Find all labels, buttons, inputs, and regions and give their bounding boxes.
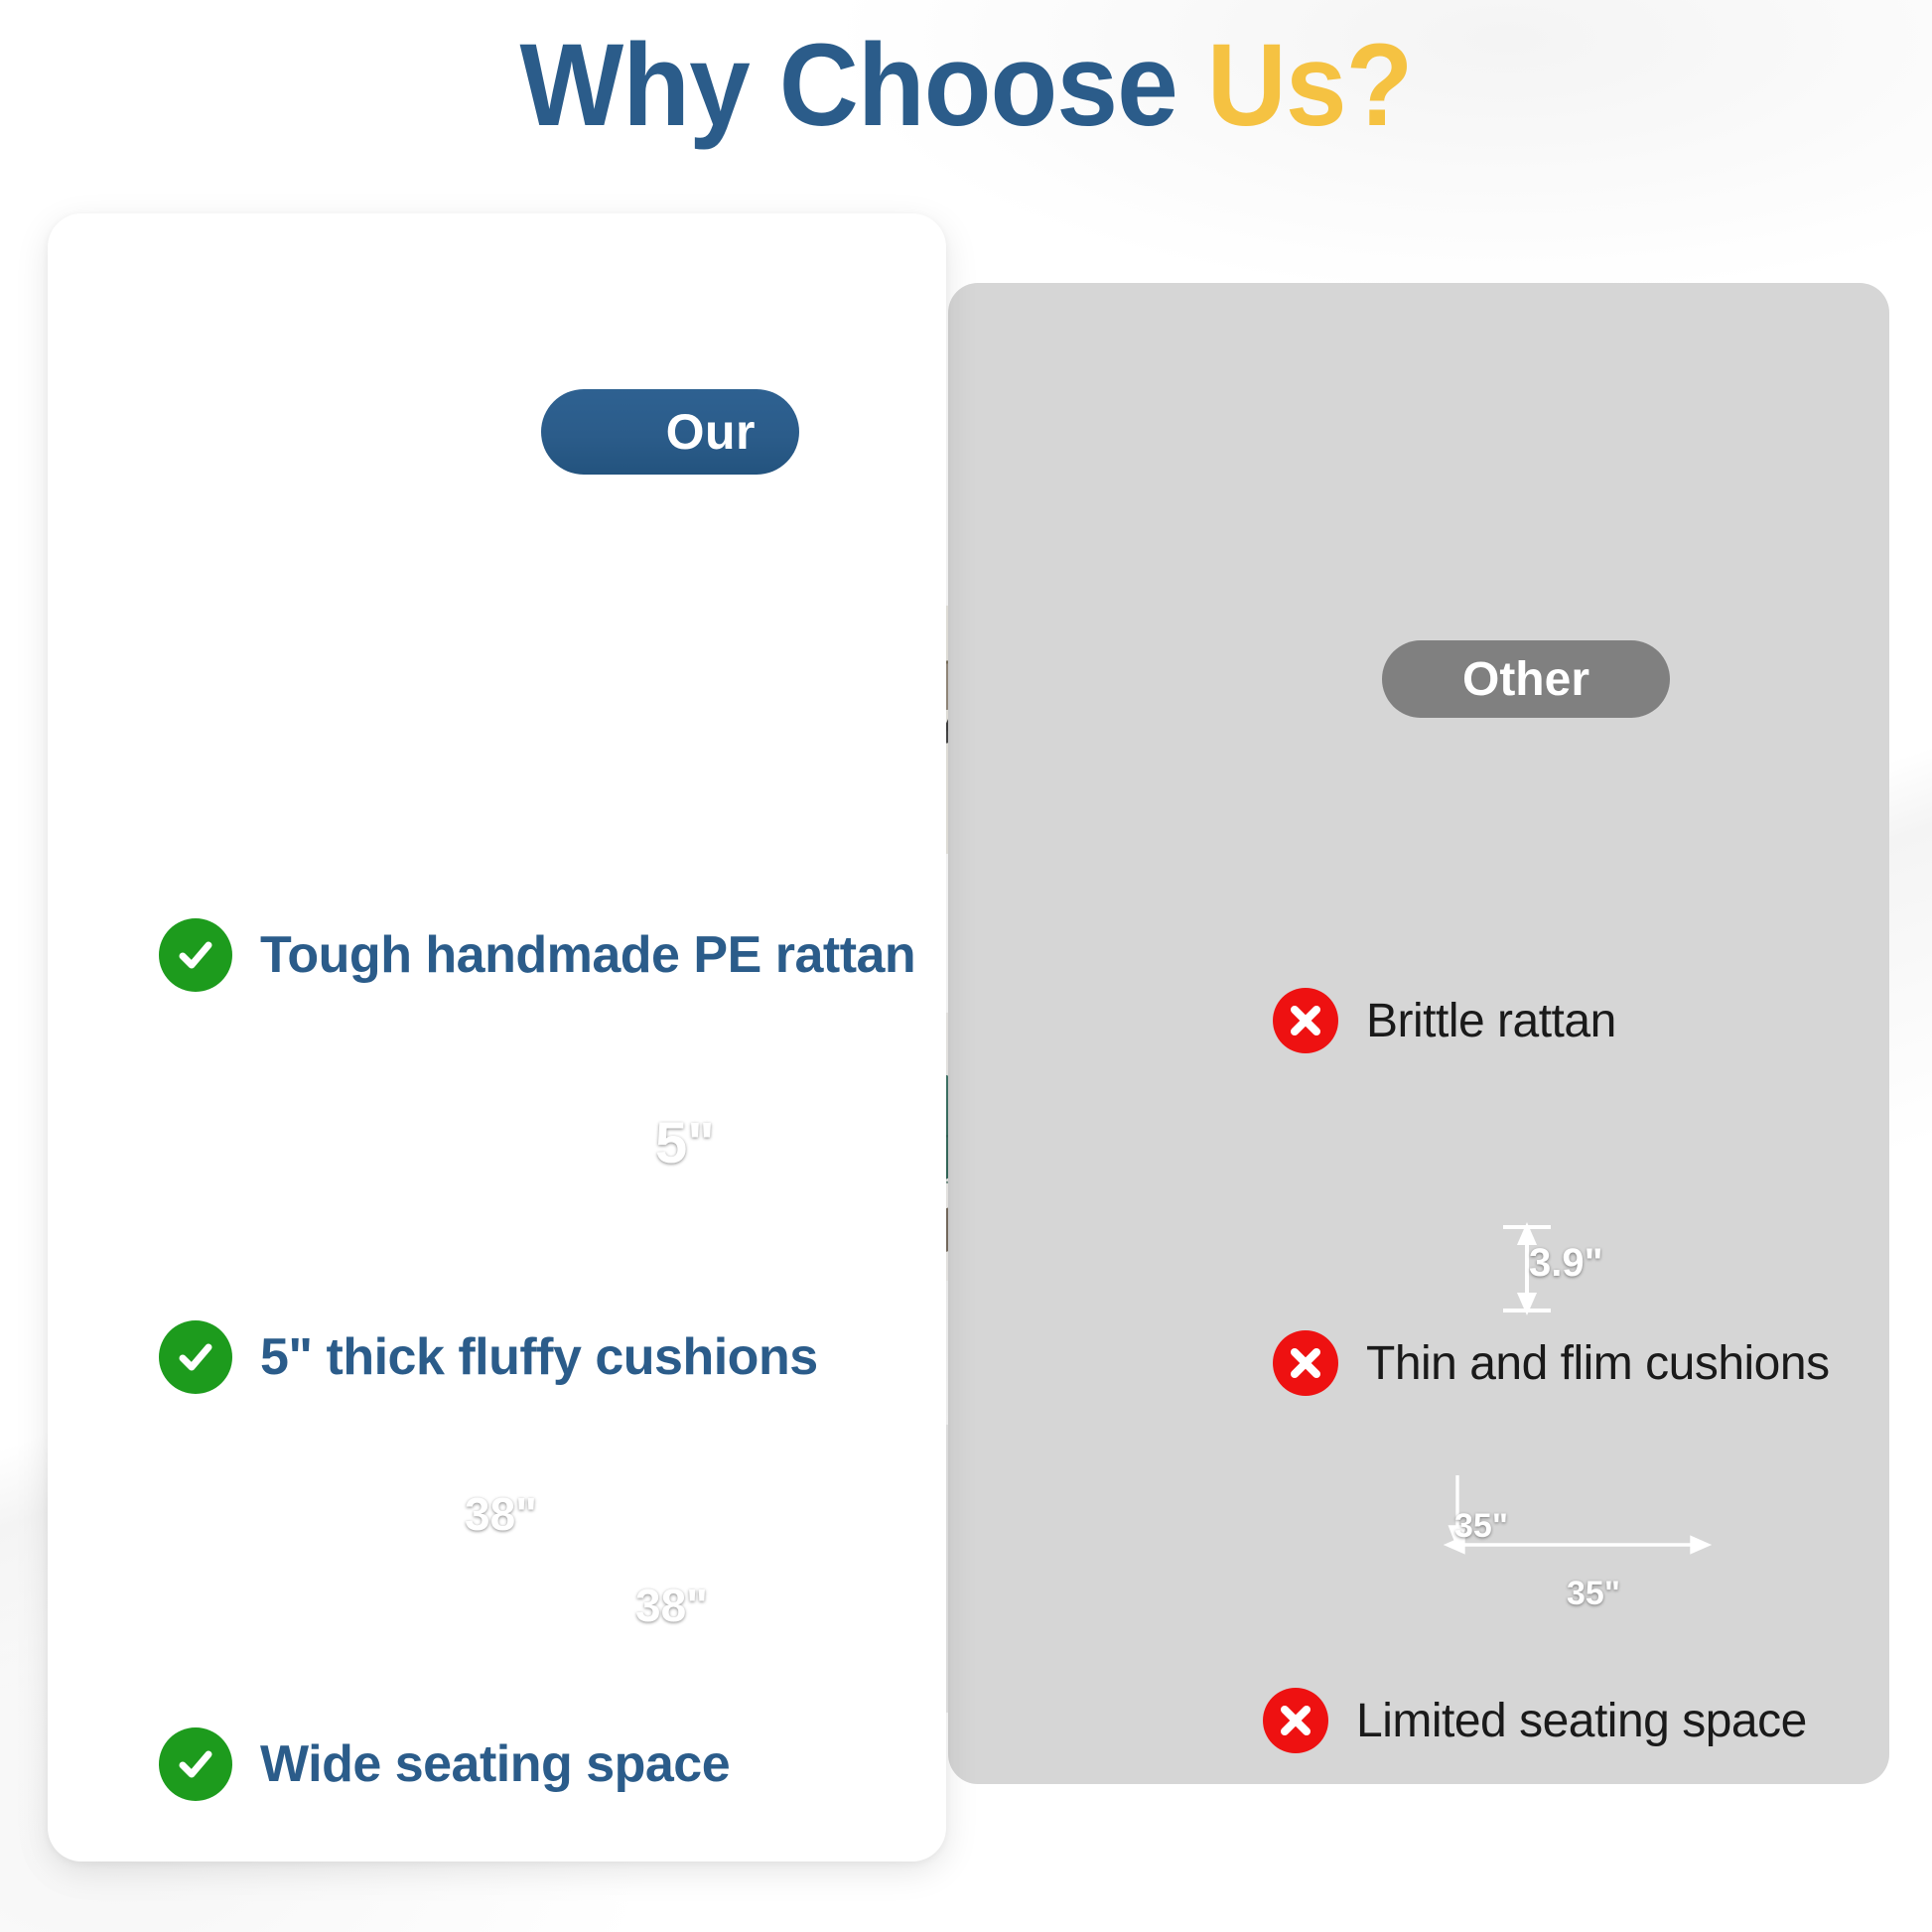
check-icon bbox=[159, 1320, 232, 1394]
other-feature-label-1: Brittle rattan bbox=[1366, 994, 1616, 1048]
check-icon bbox=[159, 918, 232, 992]
measurement-arrows-38 bbox=[397, 1440, 953, 1668]
our-feature-label-1: Tough handmade PE rattan bbox=[260, 925, 915, 985]
infographic-canvas: Why Choose Us? bbox=[0, 0, 1932, 1932]
measurement-label-5: 5" bbox=[655, 1110, 715, 1176]
measurement-label-35-depth: 35" bbox=[1454, 1507, 1508, 1546]
other-badge-label: Other bbox=[1462, 652, 1589, 707]
page-title: Why Choose Us? bbox=[58, 22, 1873, 151]
measurement-label-38-width: 38" bbox=[635, 1579, 708, 1632]
other-feature-label-3: Limited seating space bbox=[1356, 1694, 1807, 1748]
other-feature-row-2: Thin and flim cushions bbox=[1273, 1330, 1830, 1396]
x-icon bbox=[1263, 1688, 1328, 1753]
other-feature-row-1: Brittle rattan bbox=[1273, 988, 1616, 1053]
other-badge: Other bbox=[1382, 640, 1670, 718]
our-feature-label-2: 5" thick fluffy cushions bbox=[260, 1327, 818, 1387]
x-icon bbox=[1273, 1330, 1338, 1396]
other-feature-row-3: Limited seating space bbox=[1263, 1688, 1807, 1753]
measurement-label-38-depth: 38" bbox=[465, 1487, 537, 1541]
our-feature-row-2: 5" thick fluffy cushions bbox=[159, 1320, 818, 1394]
measurement-arrow-5 bbox=[610, 1050, 659, 1249]
other-feature-label-2: Thin and flim cushions bbox=[1366, 1336, 1830, 1391]
our-feature-label-3: Wide seating space bbox=[260, 1734, 730, 1794]
measurement-label-35-width: 35" bbox=[1567, 1575, 1620, 1613]
our-feature-row-3: Wide seating space bbox=[159, 1727, 730, 1801]
x-icon bbox=[1273, 988, 1338, 1053]
our-badge: Our bbox=[541, 389, 799, 475]
title-part-us: Us? bbox=[1207, 20, 1413, 151]
check-icon bbox=[159, 1727, 232, 1801]
our-feature-row-1: Tough handmade PE rattan bbox=[159, 918, 915, 992]
title-part-choose: Why Choose bbox=[520, 20, 1207, 151]
measurement-label-3-9: 3.9" bbox=[1529, 1241, 1603, 1286]
our-badge-label: Our bbox=[666, 403, 756, 461]
